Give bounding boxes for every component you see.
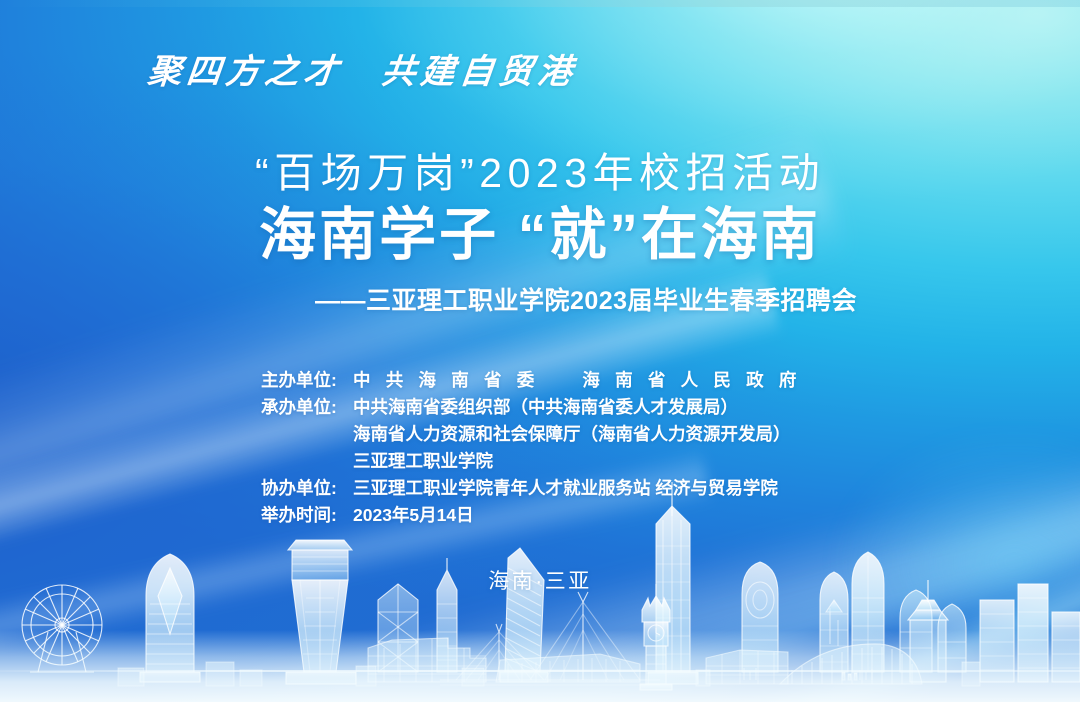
headline-block: “百场万岗”2023年校招活动 海南学子 “就”在海南 ——三亚理工职业学院20…: [0, 148, 1080, 317]
headline-line-3-subtitle: ——三亚理工职业学院2023届毕业生春季招聘会: [0, 281, 1080, 317]
poster-canvas: 聚四方之才 共建自贸港 “百场万岗”2023年校招活动 海南学子 “就”在海南 …: [0, 0, 1080, 702]
office-block-cluster: [980, 584, 1080, 682]
info-row-label: 承办单位:: [261, 394, 353, 421]
info-row: 承办单位:中共海南省委组织部（中共海南省委人才发展局）: [261, 394, 802, 421]
info-row-value: 三亚理工职业学院青年人才就业服务站 经济与贸易学院: [353, 475, 778, 502]
info-row-label: 举办时间:: [261, 502, 353, 529]
info-row: 协办单位:三亚理工职业学院青年人才就业服务站 经济与贸易学院: [261, 475, 802, 502]
info-row: 三亚理工职业学院: [261, 448, 802, 475]
headline-line-1: “百场万岗”2023年校招活动: [0, 148, 1080, 199]
info-row-value: 海南省人力资源和社会保障厅（海南省人力资源开发局）: [353, 421, 791, 448]
location-label: 海南·三亚: [0, 565, 1080, 595]
calligraphy-slogan: 聚四方之才 共建自贸港: [145, 44, 579, 93]
info-row: 举办时间:2023年5月14日: [261, 502, 802, 529]
ferris-wheel: [22, 585, 102, 672]
info-row: 海南省人力资源和社会保障厅（海南省人力资源开发局）: [261, 421, 802, 448]
info-row-value: 2023年5月14日: [353, 502, 474, 529]
info-row-label: 协办单位:: [261, 475, 353, 502]
info-row: 主办单位:中 共 海 南 省 委 海 南 省 人 民 政 府: [261, 367, 802, 394]
background-top-edge-line: [0, 0, 1080, 7]
info-row-label: 主办单位:: [261, 367, 353, 394]
info-row-value: 中共海南省委组织部（中共海南省委人才发展局）: [353, 394, 738, 421]
convention-center: [706, 650, 788, 684]
headline-line-2: 海南学子 “就”在海南: [0, 201, 1080, 271]
info-row-value: 中 共 海 南 省 委 海 南 省 人 民 政 府: [353, 367, 802, 394]
info-row-value: 三亚理工职业学院: [353, 448, 493, 475]
organizer-info-block: 主办单位:中 共 海 南 省 委 海 南 省 人 民 政 府承办单位:中共海南省…: [261, 367, 802, 529]
diamond-crown-tower: [286, 540, 356, 684]
